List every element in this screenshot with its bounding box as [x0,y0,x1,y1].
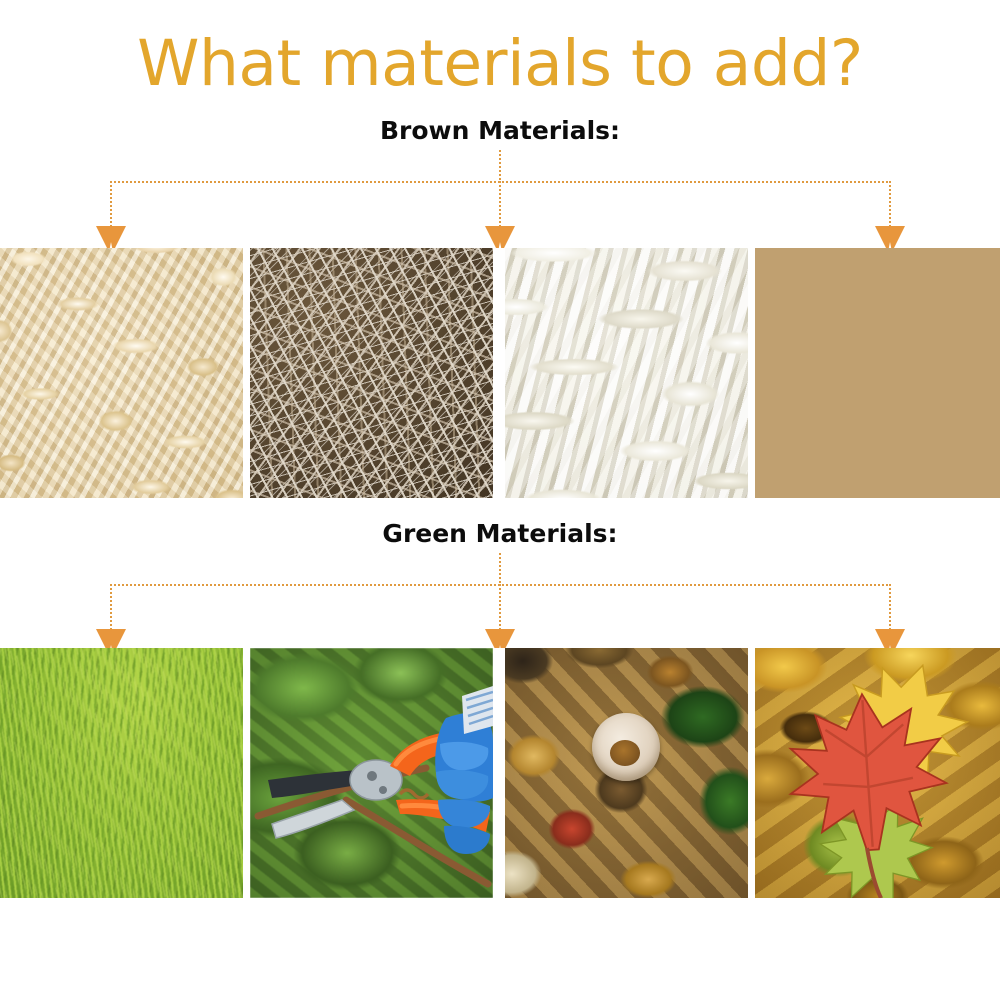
infographic-root: What materials to add? Brown Materials: [0,0,1000,1000]
connector-drop-left [110,584,112,632]
connector-brown [0,150,1000,250]
grid-gap [243,648,250,898]
connector-drop-left [110,181,112,229]
connector-drop-right [889,181,891,229]
photo-fallen-leaves [755,648,1000,898]
grid-gap [243,248,250,498]
connector-drop-right [889,584,891,632]
pruning-shears-illustration [250,648,493,898]
connector-stem [499,150,501,182]
connector-drop-center [499,584,501,632]
photo-row-brown [0,248,1000,498]
grid-gap [493,648,505,898]
grid-gap [748,248,755,498]
photo-grass-clippings [0,648,243,898]
photo-shredded-paper [505,248,748,498]
photo-kitchen-scraps [505,648,748,898]
page-title: What materials to add? [0,32,1000,95]
connector-drop-center [499,181,501,229]
section-label-brown: Brown Materials: [0,118,1000,143]
photo-pruned-branches [250,648,493,898]
scraps-cup [592,713,660,781]
section-label-green: Green Materials: [0,521,1000,546]
photo-dry-straw [250,248,493,498]
photo-row-green [0,648,1000,898]
connector-stem [499,553,501,585]
connector-green [0,553,1000,653]
grid-gap [493,248,505,498]
maple-leaf-illustration [755,648,1000,898]
photo-wood-shavings [0,248,243,498]
photo-wood-chips [755,248,1000,498]
grid-gap [748,648,755,898]
